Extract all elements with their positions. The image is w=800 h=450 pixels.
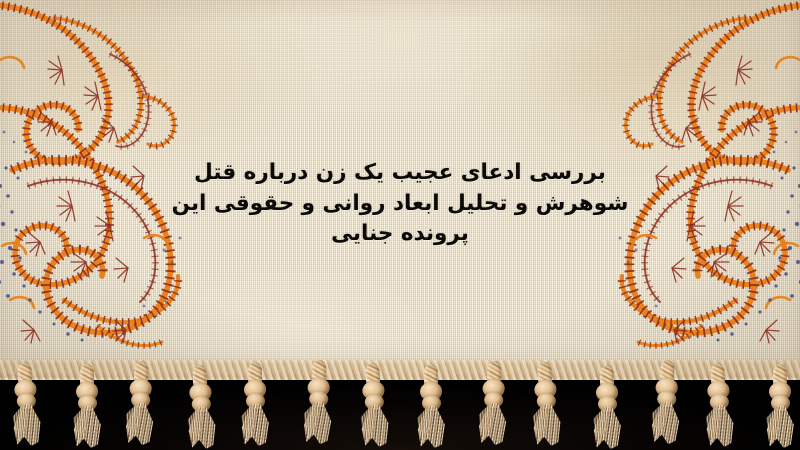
tassel (118, 360, 161, 449)
textile-headline-card: بررسی ادعای عجیب یک زن درباره قتل شوهرش … (0, 0, 800, 450)
headline-line-1: بررسی ادعای عجیب یک زن درباره قتل (0, 158, 800, 189)
tassel (760, 364, 800, 450)
headline-line-3: پرونده جنایی (0, 219, 800, 250)
tassel (4, 361, 47, 450)
tassel (179, 364, 222, 450)
tassel (352, 362, 395, 450)
tassel (471, 360, 514, 449)
knotted-tassel-fringe (0, 360, 800, 450)
tassel (411, 364, 451, 450)
tassel (524, 361, 567, 450)
tassel (587, 365, 627, 450)
headline-line-2: شوهرش و تحلیل ابعاد روانی و حقوقی این (0, 189, 800, 220)
tassel (67, 364, 107, 450)
tassel (235, 362, 275, 450)
tassel (644, 359, 687, 448)
tassel (296, 359, 339, 448)
headline-text-block: بررسی ادعای عجیب یک زن درباره قتل شوهرش … (0, 158, 800, 250)
tassel (697, 362, 740, 450)
